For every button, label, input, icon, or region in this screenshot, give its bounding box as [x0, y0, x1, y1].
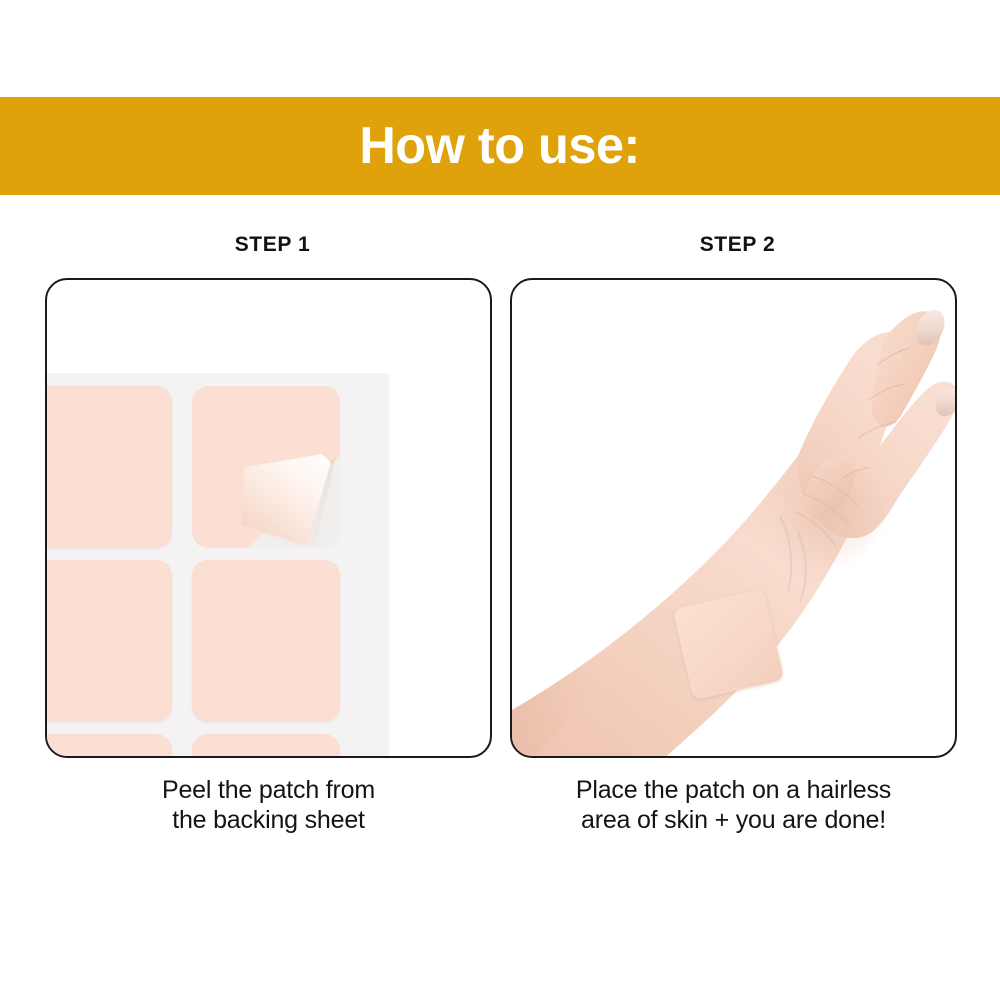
how-to-use-banner: How to use: [0, 97, 1000, 195]
step-2-caption-line-1: Place the patch on a hairless [498, 775, 969, 805]
patch-item [192, 560, 340, 722]
step-2-panel [510, 278, 957, 758]
steps-container: STEP 1 Peel the patch from the backing [0, 195, 1000, 855]
step-1-caption-line-2: the backing sheet [33, 805, 504, 835]
peeling-patch [192, 386, 340, 548]
patch-item [192, 734, 340, 758]
step-1-label: STEP 1 [45, 195, 500, 263]
step-1: STEP 1 Peel the patch from the backing [45, 195, 500, 855]
banner-title: How to use: [360, 120, 640, 172]
step-1-caption: Peel the patch from the backing sheet [33, 775, 504, 835]
patch-grid [45, 380, 389, 758]
patch-item [45, 560, 172, 722]
step-2: STEP 2 [510, 195, 965, 855]
wrist-shadow [772, 454, 888, 570]
step-1-panel [45, 278, 492, 758]
patch-item [45, 386, 172, 548]
forearm-illustration [512, 280, 955, 756]
step-2-caption: Place the patch on a hairless area of sk… [498, 775, 969, 835]
step-1-caption-line-1: Peel the patch from [33, 775, 504, 805]
step-2-label: STEP 2 [510, 195, 965, 263]
patch-item [45, 734, 172, 758]
step-2-caption-line-2: area of skin + you are done! [498, 805, 969, 835]
